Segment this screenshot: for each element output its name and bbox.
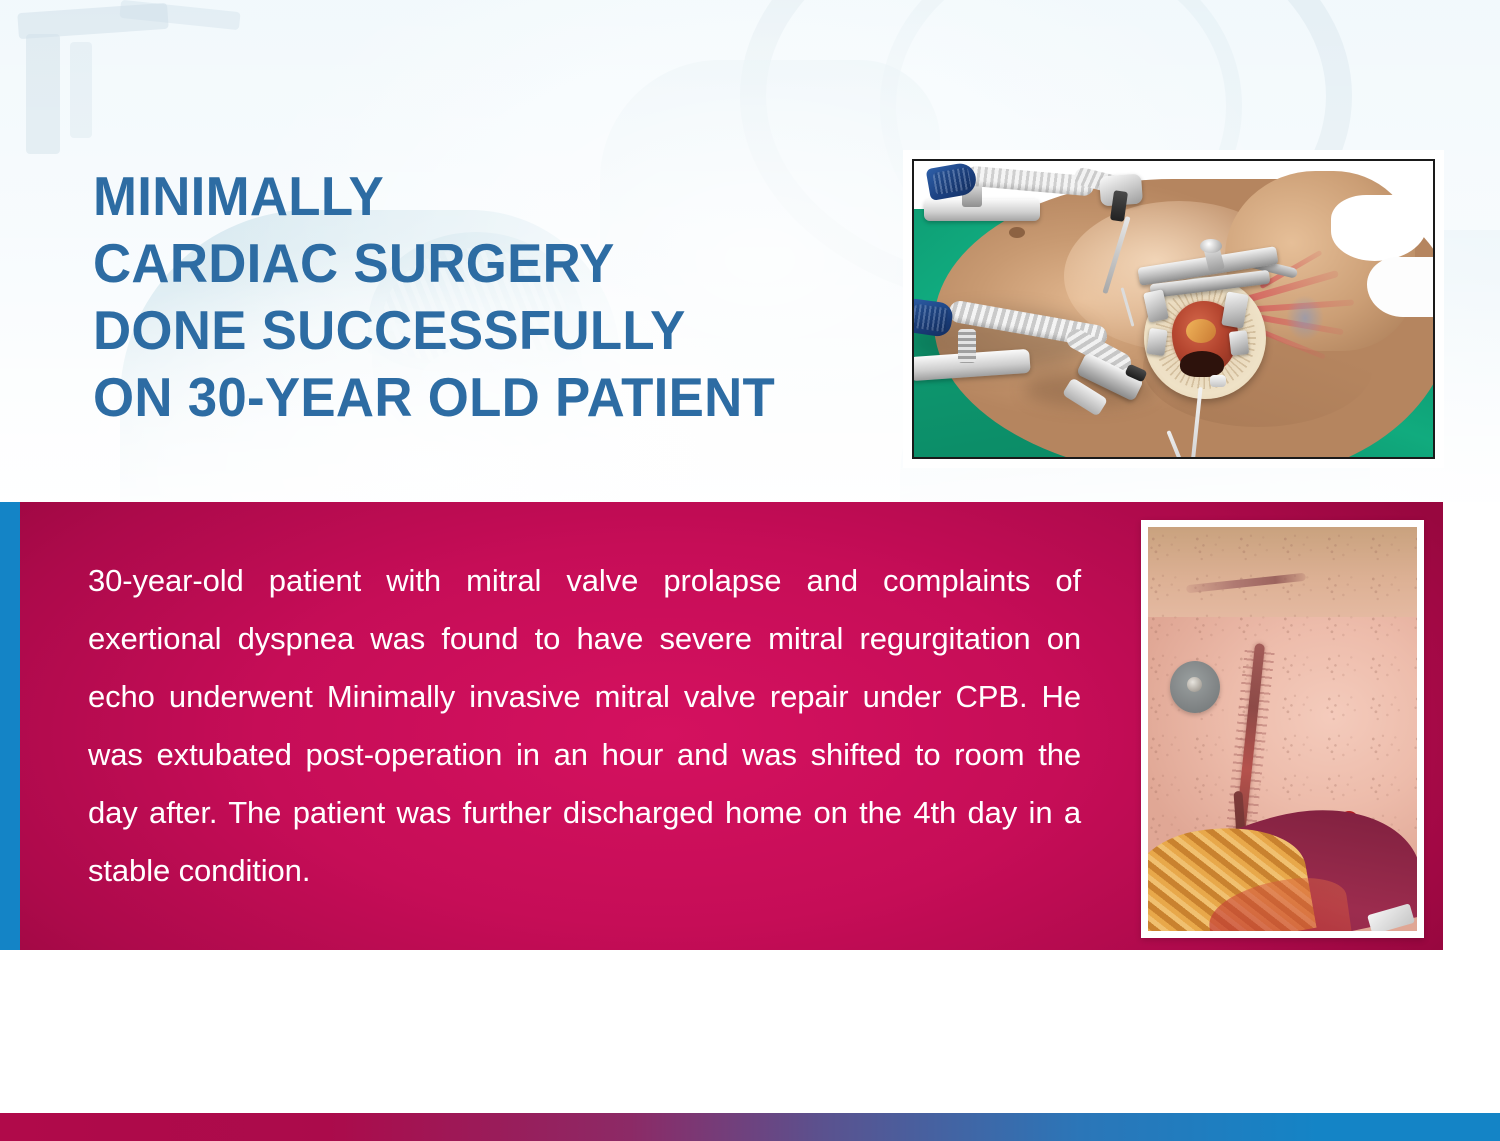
retractor-blade (1146, 328, 1167, 356)
navel (1009, 227, 1025, 238)
instrument-post-plate (924, 199, 1040, 221)
retractor-knob (1200, 239, 1222, 253)
title-line-2: CARDIAC SURGERY (93, 230, 775, 297)
ecg-electrode-stud (1187, 677, 1202, 692)
post-op-photo-frame (1141, 520, 1424, 938)
vein-blush (1286, 295, 1324, 341)
surgery-illustration (912, 159, 1435, 459)
infographic-page: MINIMALLY CARDIAC SURGERY DONE SUCCESSFU… (0, 0, 1500, 1141)
surgery-illustration-frame (903, 150, 1444, 468)
vent-line-cuff (1210, 375, 1226, 387)
mitral-valve (1186, 319, 1216, 343)
title-line-3: DONE SUCCESSFULLY (93, 297, 775, 364)
title-line-1: MINIMALLY (93, 163, 775, 230)
post-op-photo (1148, 527, 1417, 931)
title-line-4: ON 30-YEAR OLD PATIENT (93, 364, 775, 431)
page-title: MINIMALLY CARDIAC SURGERY DONE SUCCESSFU… (93, 163, 803, 431)
instrument-screw (958, 329, 976, 363)
case-summary-text: 30-year-old patient with mitral valve pr… (88, 552, 1081, 900)
incision-cavity (1180, 351, 1224, 377)
blue-accent-bar (0, 502, 20, 950)
bottom-gradient-bar (0, 1113, 1500, 1141)
illustration-canvas (914, 161, 1433, 457)
retractor-blade (1229, 330, 1249, 356)
